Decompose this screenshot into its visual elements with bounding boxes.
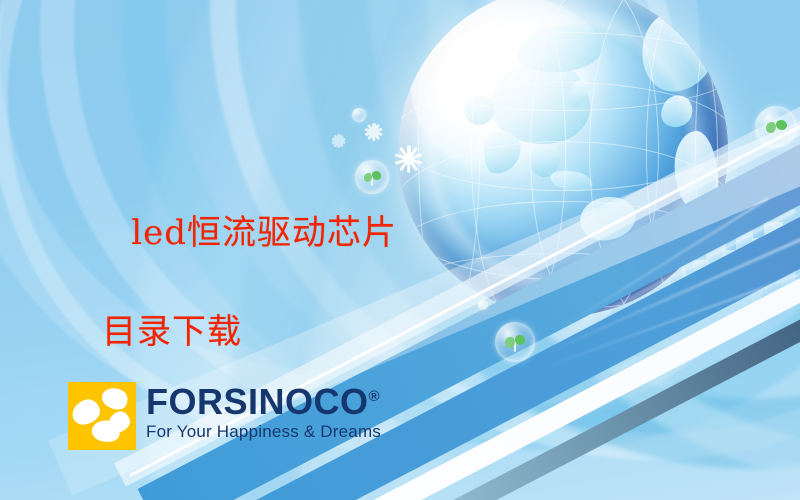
globe-graphic bbox=[398, 0, 728, 316]
logo-brand-name: FORSINOCO® bbox=[146, 384, 381, 419]
skyline-building-13 bbox=[764, 222, 783, 310]
sprout-leaf-right bbox=[776, 120, 787, 130]
india-landmass bbox=[482, 129, 523, 175]
sprout-leaf-right bbox=[515, 335, 525, 345]
sprout-leaf-left bbox=[505, 337, 514, 348]
pinwheel-flower-icon bbox=[68, 382, 136, 450]
sprout-stem bbox=[775, 122, 777, 137]
registered-trademark-icon: ® bbox=[369, 388, 381, 405]
camerica-landmass bbox=[656, 90, 698, 133]
bubble-right-edge bbox=[755, 106, 797, 148]
logo-text-block: FORSINOCO® For Your Happiness & Dreams bbox=[146, 382, 381, 442]
samerica-landmass bbox=[672, 130, 721, 219]
globe-parallel-5 bbox=[398, 253, 728, 316]
green-sprout-icon bbox=[764, 119, 788, 138]
skyline-building-12 bbox=[752, 238, 763, 310]
globe-sphere bbox=[398, 0, 728, 316]
siberia-landmass bbox=[515, 23, 604, 75]
sprout-leaf-left bbox=[766, 122, 776, 133]
logo-brand-word: FORSINOCO bbox=[146, 381, 369, 422]
indonesia-landmass bbox=[548, 167, 594, 195]
globe-meridian-1 bbox=[418, 0, 481, 316]
australia-landmass bbox=[577, 193, 639, 243]
greenland-landmass bbox=[682, 0, 715, 26]
petal-top-right bbox=[98, 383, 131, 414]
headline-line-1: led恒流驱动芯片 bbox=[131, 213, 397, 253]
brand-logo[interactable]: FORSINOCO® For Your Happiness & Dreams bbox=[68, 382, 381, 450]
headline-line-2: 目录下载 bbox=[84, 308, 397, 357]
promo-banner: led恒流驱动芯片 目录下载 FORSINOCO® For Your Happi… bbox=[0, 0, 800, 500]
skyline-building-14 bbox=[782, 244, 796, 310]
globe-parallel-4 bbox=[398, 201, 728, 310]
mideast-landmass bbox=[464, 95, 494, 125]
logo-tagline: For Your Happiness & Dreams bbox=[146, 422, 381, 442]
bubble-sprout-low bbox=[495, 322, 535, 362]
sprout-stem bbox=[514, 338, 516, 353]
skyline-building-11 bbox=[736, 210, 753, 310]
green-sprout-icon bbox=[504, 334, 526, 352]
